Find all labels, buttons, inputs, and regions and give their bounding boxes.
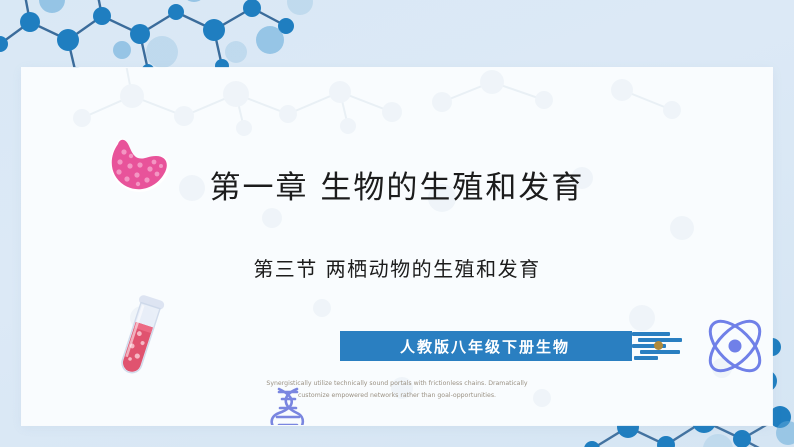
content-card: 第一章 生物的生殖和发育 第三节 两栖动物的生殖和发育 人教版八年级下册生物 S… (22, 68, 772, 425)
dna-helix-icon (270, 386, 308, 425)
section-title: 第三节 两栖动物的生殖和发育 (22, 258, 772, 280)
atom-icon (700, 311, 770, 381)
test-tube-icon (107, 290, 173, 386)
slide-canvas: 第一章 生物的生殖和发育 第三节 两栖动物的生殖和发育 人教版八年级下册生物 S… (0, 0, 794, 447)
banner-block: 人教版八年级下册生物 (340, 331, 632, 361)
textbook-banner: 人教版八年级下册生物 (340, 331, 684, 361)
atom-nucleus (729, 340, 742, 353)
bacteria-cell-icon (104, 130, 176, 198)
banner-accent-dot (654, 341, 663, 350)
banner-streak-decoration (632, 331, 684, 361)
banner-label: 人教版八年级下册生物 (400, 336, 570, 357)
